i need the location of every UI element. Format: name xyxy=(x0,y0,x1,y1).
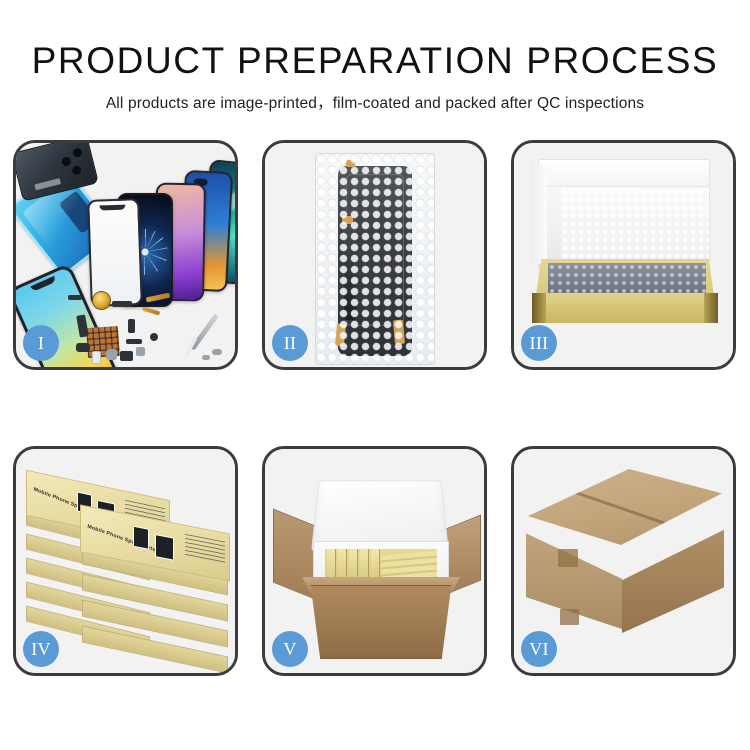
carton-top-face-icon xyxy=(528,469,722,545)
small-part-icon xyxy=(212,349,222,355)
carton-body-icon xyxy=(301,585,461,659)
step-panel-2: II xyxy=(262,140,487,370)
disassembled-phone-back-icon xyxy=(16,143,99,202)
page-header: PRODUCT PREPARATION PROCESS All products… xyxy=(0,0,750,113)
step-badge-3: III xyxy=(521,325,557,361)
carton-tape-icon xyxy=(560,609,579,625)
step-badge-4: IV xyxy=(23,631,59,667)
carton-with-foam-icon xyxy=(273,465,479,661)
tape-mark-icon xyxy=(346,160,355,167)
small-part-icon xyxy=(202,355,210,360)
small-part-icon xyxy=(76,343,90,352)
step-badge-6: VI xyxy=(521,631,557,667)
small-part-icon xyxy=(150,333,158,341)
small-part-icon xyxy=(136,347,145,356)
speaker-component-icon xyxy=(92,291,111,310)
foam-sheet-icon xyxy=(561,188,709,264)
tape-mark-icon xyxy=(342,216,353,224)
tape-mark-icon xyxy=(393,320,405,345)
small-part-icon xyxy=(68,295,82,300)
step-panel-1: I xyxy=(13,140,238,370)
bubble-wrap-package-icon xyxy=(315,153,435,365)
flex-strip-icon xyxy=(344,210,356,320)
box-window-icon xyxy=(133,526,149,550)
open-inner-box-icon xyxy=(528,159,720,345)
small-part-icon xyxy=(106,349,117,360)
small-part-icon xyxy=(126,339,142,344)
flex-cable-part-icon xyxy=(142,307,160,316)
small-part-icon xyxy=(120,351,133,361)
connector-part-icon xyxy=(112,301,132,307)
tweezers-icon xyxy=(190,314,219,351)
yellow-tray-front-icon xyxy=(532,293,718,323)
step-panel-3: III xyxy=(511,140,736,370)
step-panel-5: V xyxy=(262,446,487,676)
step-panel-4: Mobile Phone Spare Parts Mobile Phone Sp… xyxy=(13,446,238,676)
stacked-retail-boxes-icon: Mobile Phone Spare Parts Mobile Phone Sp… xyxy=(24,463,230,663)
sealed-carton-icon xyxy=(526,469,724,655)
step-panel-6: VI xyxy=(511,446,736,676)
page-subtitle: All products are image-printed，film-coat… xyxy=(0,91,750,113)
bubble-wrapped-contents-icon xyxy=(548,263,706,295)
foam-lid-icon xyxy=(538,159,710,271)
small-part-icon xyxy=(128,319,135,333)
page-title: PRODUCT PREPARATION PROCESS xyxy=(0,42,750,81)
step-badge-1: I xyxy=(23,325,59,361)
step-badge-2: II xyxy=(272,325,308,361)
process-steps-grid: I II xyxy=(13,140,737,676)
box-window-icon xyxy=(155,534,174,561)
carton-seam-icon xyxy=(558,485,691,533)
product-preparation-process-page: PRODUCT PREPARATION PROCESS All products… xyxy=(0,0,750,750)
step-badge-5: V xyxy=(272,631,308,667)
small-part-icon xyxy=(92,351,101,364)
tempered-glass-icon xyxy=(87,198,143,307)
carton-tape-icon xyxy=(558,549,578,567)
